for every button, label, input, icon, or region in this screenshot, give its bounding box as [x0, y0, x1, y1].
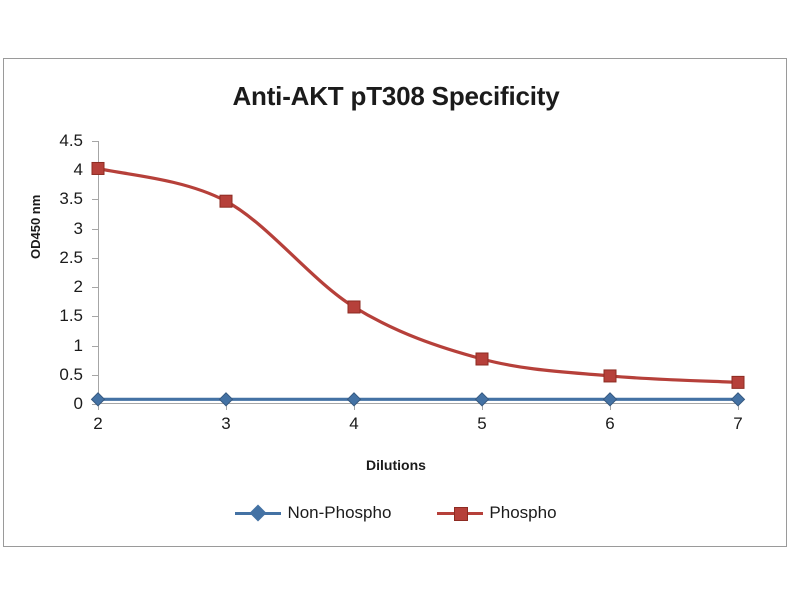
- legend-label: Phospho: [489, 503, 556, 523]
- chart-title: Anti-AKT pT308 Specificity: [4, 81, 788, 112]
- data-point-square[interactable]: [604, 370, 616, 382]
- legend-item-non-phospho[interactable]: Non-Phospho: [235, 503, 391, 523]
- series-phospho: [92, 162, 744, 388]
- chart-card: Anti-AKT pT308 Specificity OD450 nm 00.5…: [3, 58, 787, 547]
- series-line: [98, 168, 738, 382]
- series-layer: [98, 141, 738, 404]
- x-tick-label: 4: [349, 414, 358, 434]
- x-tick-label: 5: [477, 414, 486, 434]
- data-point-diamond[interactable]: [604, 393, 617, 406]
- legend-marker-diamond-icon: [250, 505, 267, 522]
- x-axis-title: Dilutions: [4, 457, 788, 473]
- data-point-diamond[interactable]: [476, 393, 489, 406]
- x-tick-label: 3: [221, 414, 230, 434]
- y-tick-label: 0: [74, 394, 83, 414]
- series-non-phospho: [92, 393, 745, 406]
- data-point-diamond[interactable]: [732, 393, 745, 406]
- legend-key: [235, 506, 281, 520]
- legend-item-phospho[interactable]: Phospho: [437, 503, 556, 523]
- chart-legend: Non-PhosphoPhospho: [4, 503, 788, 523]
- legend-marker-square-icon: [454, 507, 468, 521]
- data-point-diamond[interactable]: [348, 393, 361, 406]
- y-tick-label: 2: [74, 277, 83, 297]
- data-point-square[interactable]: [348, 301, 360, 313]
- y-tick-label: 4.5: [59, 131, 83, 151]
- y-tick-label: 1.5: [59, 306, 83, 326]
- y-tick-label: 3.5: [59, 189, 83, 209]
- data-point-square[interactable]: [92, 162, 104, 174]
- y-tick-label: 1: [74, 336, 83, 356]
- y-tick-label: 3: [74, 219, 83, 239]
- y-tick-label: 2.5: [59, 248, 83, 268]
- x-tick-label: 7: [733, 414, 742, 434]
- x-tick-label: 6: [605, 414, 614, 434]
- y-tick-label: 4: [74, 160, 83, 180]
- y-axis-title: OD450 nm: [28, 195, 43, 259]
- legend-label: Non-Phospho: [287, 503, 391, 523]
- data-point-diamond[interactable]: [220, 393, 233, 406]
- x-tick-label: 2: [93, 414, 102, 434]
- data-point-square[interactable]: [732, 376, 744, 388]
- y-tick-label: 0.5: [59, 365, 83, 385]
- legend-key: [437, 506, 483, 520]
- data-point-square[interactable]: [476, 353, 488, 365]
- plot-area: 00.511.522.533.544.5 234567: [98, 141, 738, 404]
- data-point-square[interactable]: [220, 195, 232, 207]
